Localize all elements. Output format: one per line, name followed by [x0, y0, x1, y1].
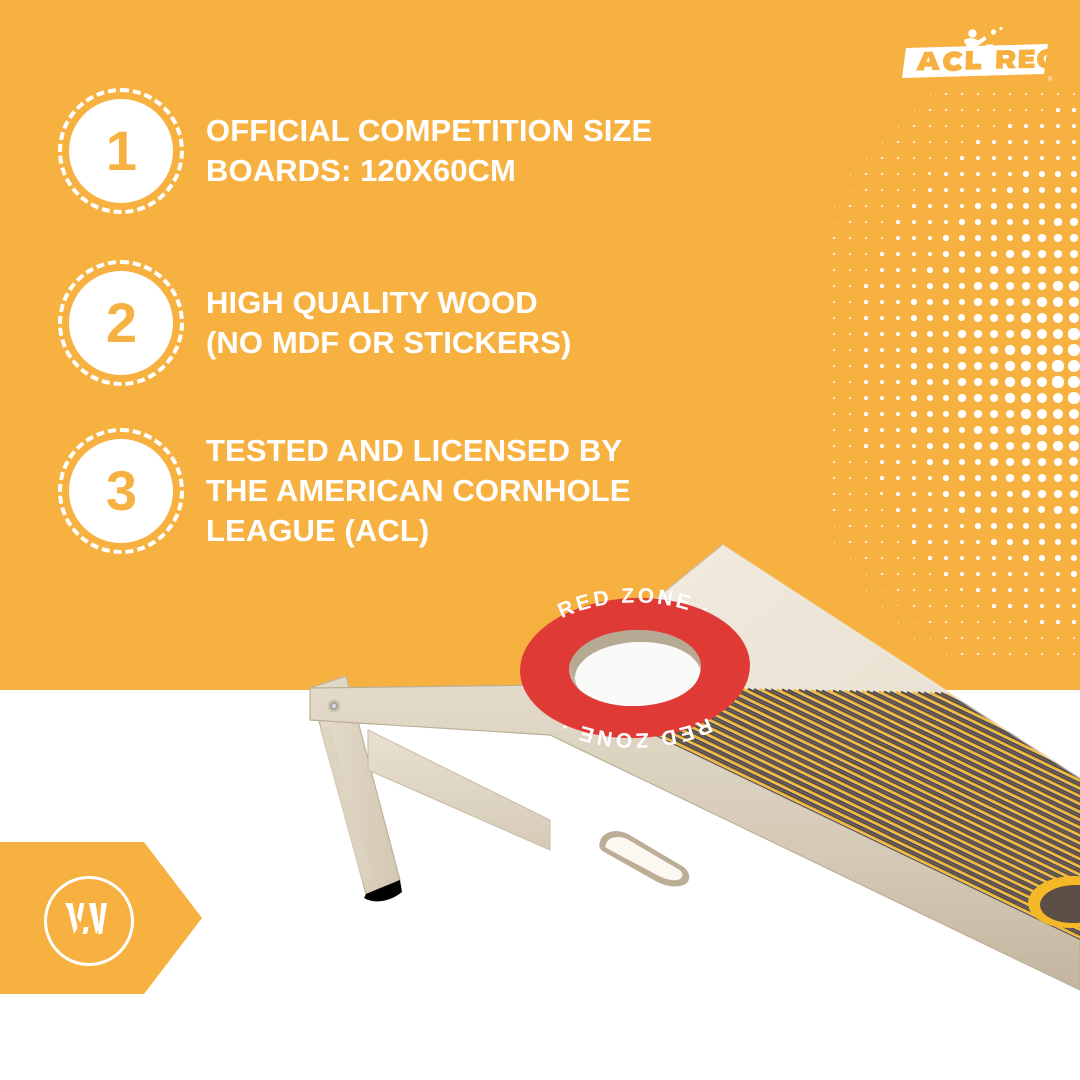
feature-text-1: OFFICIAL COMPETITION SIZE BOARDS: 120X60…: [206, 111, 652, 191]
handle-cutout: [599, 831, 689, 886]
feature-number-1: 1: [106, 123, 136, 179]
infographic-canvas: ® 1 OFFICIAL COMPETITION SIZE BOARDS: 12…: [0, 0, 1080, 1080]
feature-text-2: HIGH QUALITY WOOD (NO MDF OR STICKERS): [206, 283, 571, 363]
badge-disc: 2: [69, 271, 173, 375]
vw-monogram-badge: [0, 842, 202, 994]
feature-badge-3: 3: [58, 428, 184, 554]
feature-number-3: 3: [106, 463, 136, 519]
feature-badge-2: 2: [58, 260, 184, 386]
screw: [328, 700, 341, 713]
feature-item-2: 2 HIGH QUALITY WOOD (NO MDF OR STICKERS): [58, 260, 571, 386]
vw-monogram-icon: [44, 876, 128, 960]
feature-item-1: 1 OFFICIAL COMPETITION SIZE BOARDS: 120X…: [58, 88, 652, 214]
badge-disc: 3: [69, 439, 173, 543]
acl-rec-logo: ®: [898, 24, 1058, 86]
feature-badge-1: 1: [58, 88, 184, 214]
leg-brace: [368, 730, 550, 850]
badge-disc: 1: [69, 99, 173, 203]
feature-number-2: 2: [106, 295, 136, 351]
registered-trademark: ®: [1048, 76, 1053, 83]
cornhole-board-image: RED ZONE · RED ZONE ·: [250, 520, 1080, 1080]
